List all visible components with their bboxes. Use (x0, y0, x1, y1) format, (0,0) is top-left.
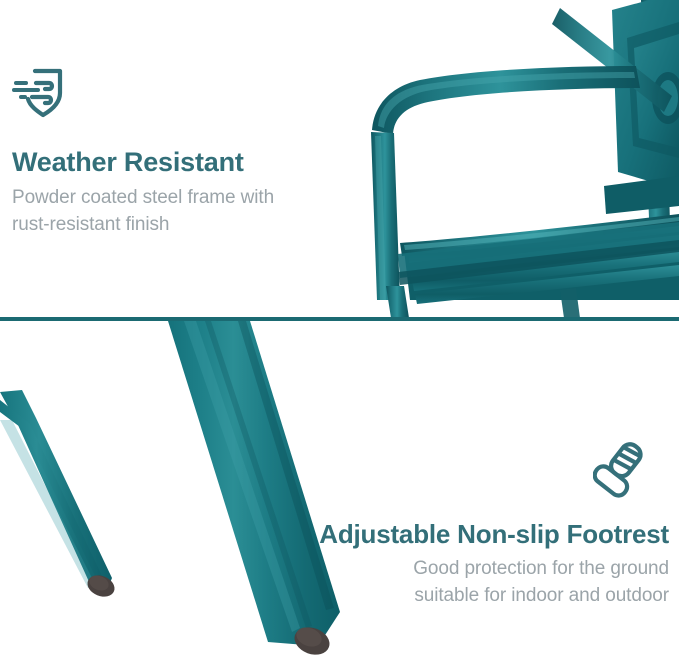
feature-block-adjustable-footrest: Adjustable Non-slip Footrest Good protec… (279, 440, 669, 610)
feature-description-weather-resistant: Powder coated steel frame with rust-resi… (12, 185, 342, 239)
section-divider (0, 317, 679, 321)
feature-title-adjustable-footrest: Adjustable Non-slip Footrest (279, 520, 669, 549)
shield-wind-icon (12, 62, 68, 122)
feature-description-line: suitable for indoor and outdoor (279, 583, 669, 610)
product-feature-infographic: Weather Resistant Powder coated steel fr… (0, 0, 679, 656)
adjustable-screw-foot-icon (593, 440, 657, 502)
feature-title-weather-resistant: Weather Resistant (12, 148, 342, 178)
feature-description-line: Good protection for the ground (279, 556, 669, 583)
feature-block-weather-resistant: Weather Resistant Powder coated steel fr… (12, 62, 342, 239)
feature-description-line: rust-resistant finish (12, 212, 342, 239)
feature-description-line: Powder coated steel frame with (12, 185, 342, 212)
feature-description-adjustable-footrest: Good protection for the ground suitable … (279, 556, 669, 610)
